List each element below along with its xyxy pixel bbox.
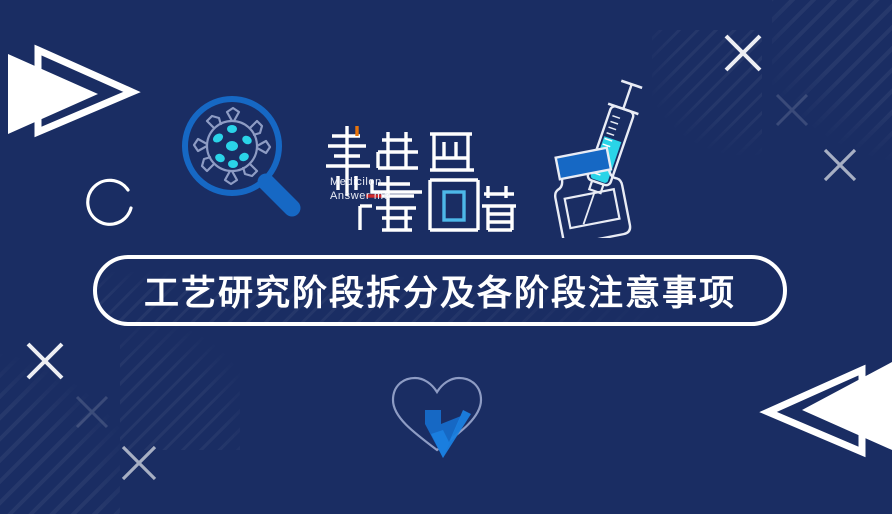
double-triangle-left-icon: [750, 358, 892, 488]
logo-english-text: Medicilon Answer me: [330, 175, 390, 203]
double-triangle-right-icon: [2, 18, 152, 138]
syringe-vial-group: [552, 78, 677, 243]
logo-en-line2: Answer me: [330, 189, 390, 203]
heart-pulse-icon: [385, 372, 490, 467]
x-mark-icon: [72, 392, 112, 437]
logo-en-line1: Medicilon: [330, 175, 390, 189]
x-mark-icon: [820, 145, 860, 190]
logo-blue-square: [444, 192, 464, 220]
title-pill: 工艺研究阶段拆分及各阶段注意事项: [93, 255, 787, 326]
page-title: 工艺研究阶段拆分及各阶段注意事项: [144, 265, 736, 316]
x-mark-icon: [118, 442, 160, 489]
open-circle-arc-icon: [78, 178, 140, 245]
brand-logo: Medicilon Answer me: [326, 118, 516, 236]
magnifier-virus-icon: [178, 92, 308, 227]
x-mark-icon: [772, 90, 812, 135]
x-mark-icon: [22, 338, 68, 389]
banner-root: Medicilon Answer me 工艺研究阶段拆分及各阶段注意事项: [0, 0, 892, 514]
x-mark-icon: [720, 30, 766, 81]
